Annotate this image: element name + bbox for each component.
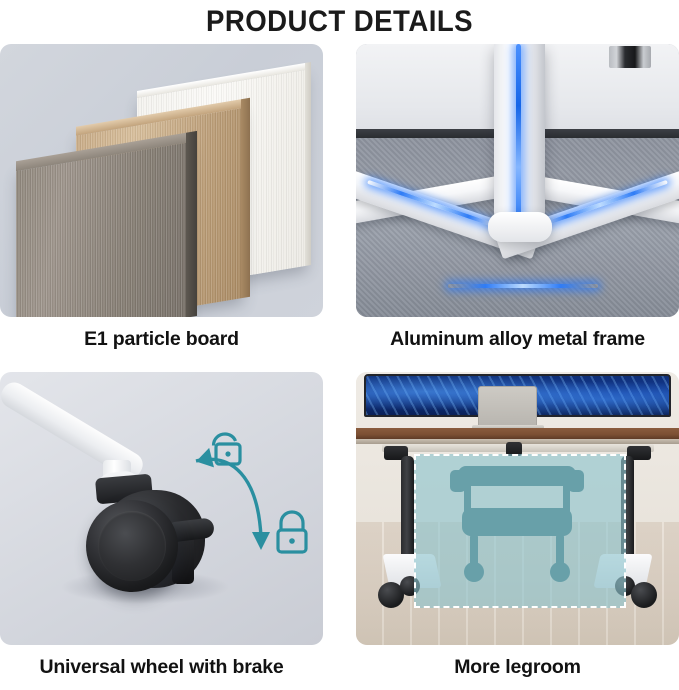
- desk-caster-front-right: [631, 582, 657, 608]
- board-white-side-edge: [305, 62, 311, 266]
- cable-clip: [609, 46, 651, 68]
- board-gray-side-edge: [186, 131, 197, 317]
- desk-top-surface: [356, 428, 679, 439]
- universal-wheel-image: [0, 372, 323, 645]
- led-strip-vertical: [516, 44, 521, 220]
- caption-particle-board: E1 particle board: [0, 317, 323, 362]
- metal-frame-image: [356, 44, 679, 317]
- detail-cell-universal-wheel: Universal wheel with brake: [0, 372, 323, 690]
- product-details-page: PRODUCT DETAILS: [0, 0, 679, 673]
- caption-metal-frame: Aluminum alloy metal frame: [356, 317, 679, 362]
- legroom-highlight-area: [414, 454, 626, 608]
- board-gray-grain: [16, 143, 186, 317]
- frame-center-hub: [488, 212, 552, 242]
- wheel-annotations: [0, 372, 323, 645]
- caption-universal-wheel: Universal wheel with brake: [0, 645, 323, 690]
- page-title: PRODUCT DETAILS: [27, 0, 652, 42]
- lock-icon: [278, 512, 306, 552]
- board-gray: [16, 143, 186, 317]
- unlock-icon: [210, 434, 240, 645]
- details-grid: E1 particle board Aluminum alloy metal: [0, 44, 679, 690]
- detail-cell-legroom: More legroom: [356, 372, 679, 690]
- led-glow-bottom: [448, 284, 598, 288]
- detail-cell-metal-frame: Aluminum alloy metal frame: [356, 44, 679, 362]
- desk-post-left: [401, 456, 414, 560]
- detail-cell-particle-board: E1 particle board: [0, 44, 323, 362]
- legroom-image: [356, 372, 679, 645]
- curved-double-arrow: [196, 459, 261, 537]
- arrowhead-lock: [252, 532, 270, 550]
- laptop: [478, 386, 537, 426]
- particle-board-image: [0, 44, 323, 317]
- board-oak-side-edge: [241, 98, 250, 299]
- caption-legroom: More legroom: [356, 645, 679, 690]
